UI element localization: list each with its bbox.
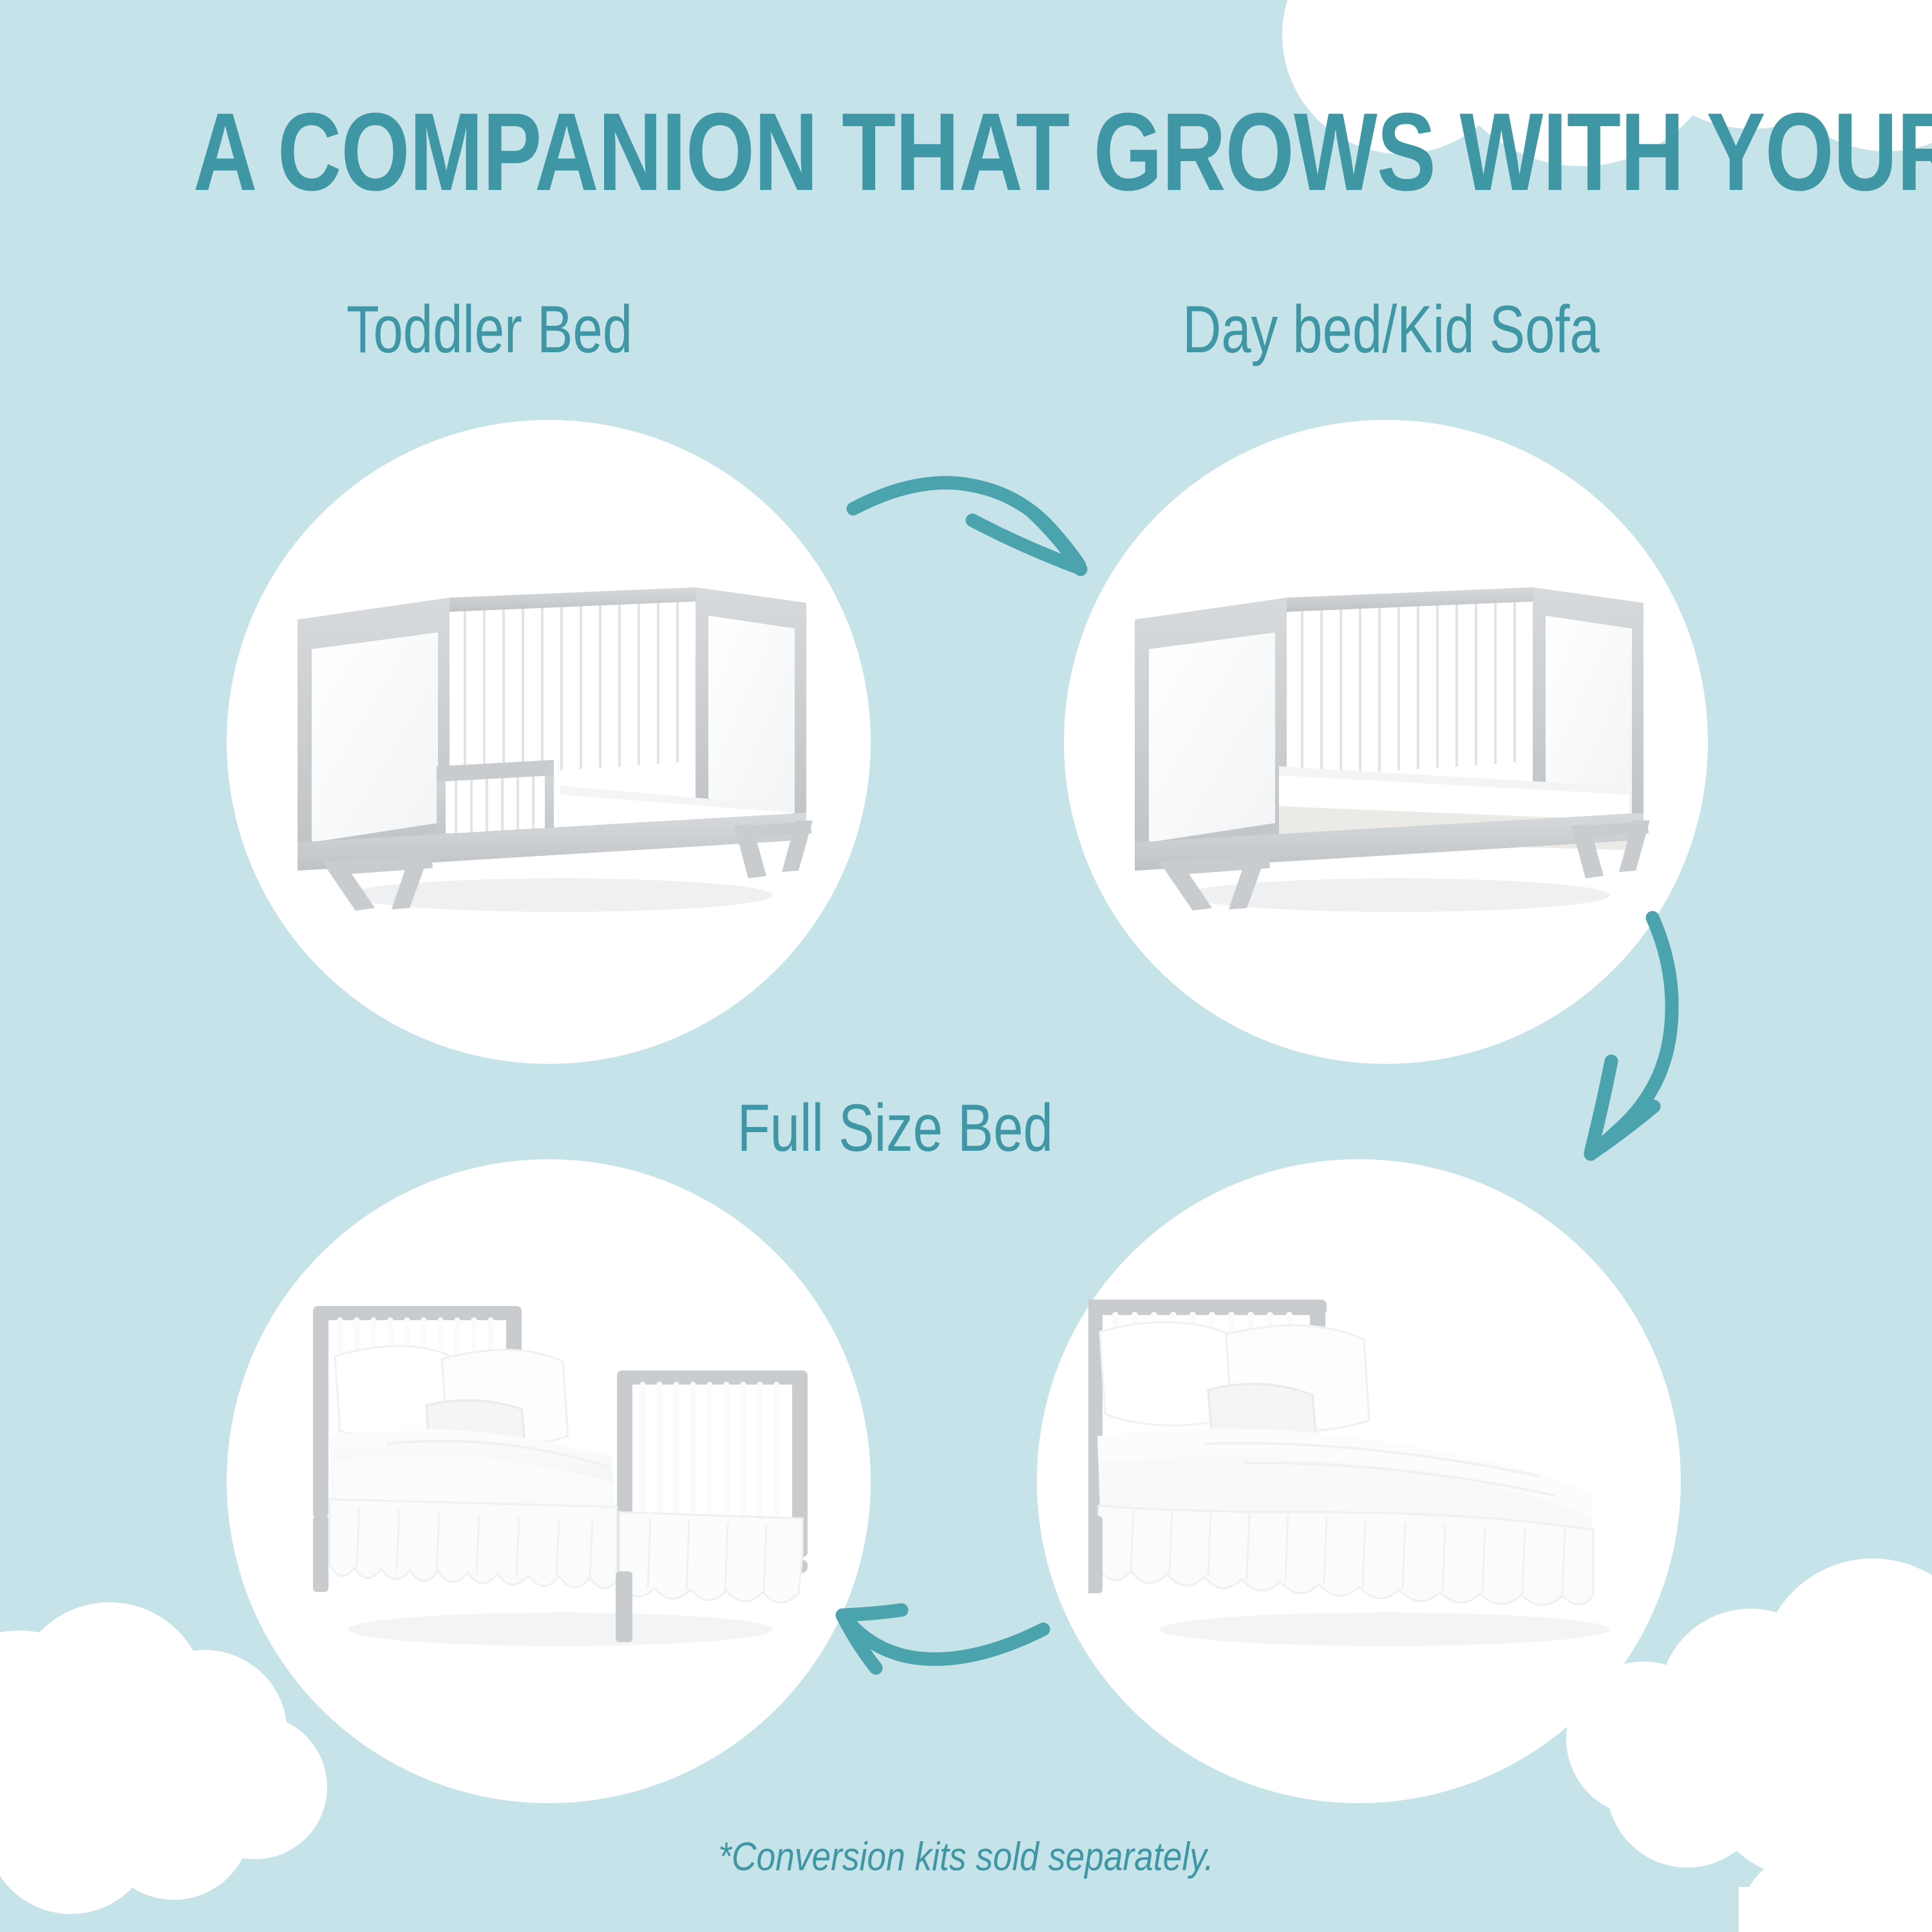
arrow-daybed-to-full-right-icon bbox=[1591, 918, 1672, 1154]
footnote-conversion-kits: *Conversion kits sold separately. bbox=[135, 1834, 1797, 1880]
arrow-toddler-to-daybed-icon bbox=[853, 483, 1081, 569]
infographic-canvas: A COMPANION THAT GROWS WITH YOUR LITTLE … bbox=[0, 0, 1932, 1932]
arrow-layer bbox=[0, 0, 1932, 1932]
arrow-full-right-to-full-left-icon bbox=[842, 1610, 1043, 1668]
